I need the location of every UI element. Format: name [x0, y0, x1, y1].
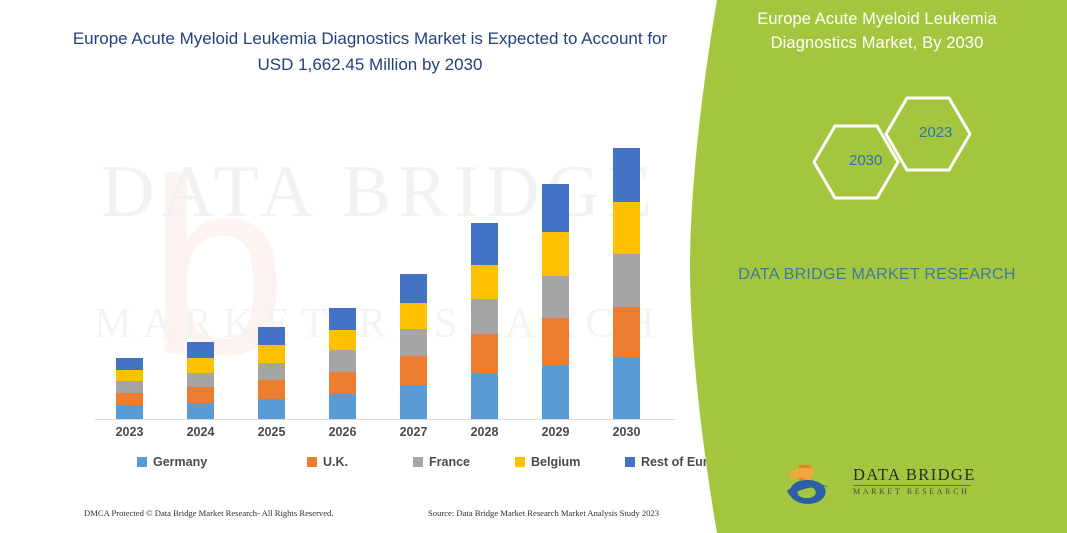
bar-segment — [400, 385, 427, 419]
legend-item-france[interactable]: France — [413, 455, 470, 469]
x-tick-2029: 2029 — [526, 425, 586, 439]
legend-item-belgium[interactable]: Belgium — [515, 455, 580, 469]
bar-segment — [400, 274, 427, 303]
x-tick-2023: 2023 — [100, 425, 160, 439]
bar-segment — [329, 330, 356, 350]
logo-divider — [853, 485, 971, 486]
bar-segment — [116, 358, 143, 370]
bar-segment — [258, 380, 285, 398]
bar-segment — [329, 350, 356, 371]
legend-label: U.K. — [323, 455, 348, 469]
bar-segment — [400, 303, 427, 329]
bar-segment — [116, 393, 143, 406]
bar-segment — [187, 403, 214, 419]
bar-segment — [613, 254, 640, 306]
company-logo: DATA BRIDGE MARKET RESEARCH — [785, 461, 985, 511]
infographic-root: b DATA BRIDGE MARKET RESEARCH Europe Acu… — [0, 0, 1067, 533]
legend-item-u-k[interactable]: U.K. — [307, 455, 348, 469]
hexagon-label-2030: 2030 — [849, 152, 882, 169]
bar-segment — [542, 184, 569, 232]
chart-panel: b DATA BRIDGE MARKET RESEARCH Europe Acu… — [0, 0, 720, 533]
bar-segment — [542, 276, 569, 319]
bar-segment — [613, 307, 640, 357]
x-axis-labels: 20232024202520262027202820292030 — [95, 425, 675, 445]
bar-segment — [116, 405, 143, 419]
bar-segment — [258, 327, 285, 345]
bar-segment — [471, 265, 498, 299]
logo-subtitle: MARKET RESEARCH — [853, 487, 969, 496]
bar-2028 — [471, 223, 498, 419]
bar-segment — [187, 387, 214, 403]
bar-segment — [400, 356, 427, 385]
bar-segment — [258, 399, 285, 419]
legend-swatch-icon — [413, 457, 423, 467]
bar-2025 — [258, 327, 285, 419]
bar-segment — [471, 373, 498, 420]
chart-title: Europe Acute Myeloid Leukemia Diagnostic… — [60, 26, 680, 77]
bar-segment — [471, 334, 498, 373]
legend-item-germany[interactable]: Germany — [137, 455, 207, 469]
hexagon-badges: 2023 2030 — [783, 92, 1023, 202]
chart-legend: GermanyU.K.FranceBelgiumRest of Europe — [95, 455, 675, 477]
x-axis-line — [95, 419, 675, 420]
bar-segment — [116, 370, 143, 382]
bar-segment — [471, 223, 498, 265]
hexagon-outlines-icon — [783, 92, 1023, 202]
bar-2027 — [400, 274, 427, 419]
bar-segment — [542, 232, 569, 276]
legend-swatch-icon — [625, 457, 635, 467]
bar-segment — [613, 357, 640, 419]
bar-2026 — [329, 308, 356, 419]
bar-segment — [329, 372, 356, 394]
bar-chart-plot — [95, 110, 675, 420]
x-tick-2026: 2026 — [313, 425, 373, 439]
legend-label: France — [429, 455, 470, 469]
bar-segment — [542, 365, 569, 419]
logo-name: DATA BRIDGE — [853, 465, 976, 485]
bar-2029 — [542, 184, 569, 419]
footer: DMCA Protected © Data Bridge Market Rese… — [0, 508, 720, 528]
legend-label: Germany — [153, 455, 207, 469]
bar-segment — [258, 345, 285, 362]
footer-source: Source: Data Bridge Market Research Mark… — [428, 508, 659, 518]
x-tick-2027: 2027 — [384, 425, 444, 439]
bar-segment — [258, 363, 285, 380]
panel-title: Europe Acute Myeloid Leukemia Diagnostic… — [717, 8, 1037, 56]
bar-segment — [116, 381, 143, 393]
bar-segment — [187, 342, 214, 358]
x-tick-2028: 2028 — [455, 425, 515, 439]
hexagon-label-2023: 2023 — [919, 124, 952, 141]
x-tick-2030: 2030 — [597, 425, 657, 439]
bar-segment — [329, 308, 356, 330]
bar-2023 — [116, 358, 143, 419]
bar-segment — [187, 373, 214, 388]
bar-segment — [471, 299, 498, 334]
legend-swatch-icon — [307, 457, 317, 467]
bar-segment — [400, 329, 427, 356]
data-bridge-b-icon — [785, 461, 845, 509]
x-tick-2025: 2025 — [242, 425, 302, 439]
legend-swatch-icon — [137, 457, 147, 467]
bar-segment — [187, 358, 214, 373]
bar-2030 — [613, 148, 640, 419]
legend-swatch-icon — [515, 457, 525, 467]
footer-copyright: DMCA Protected © Data Bridge Market Rese… — [84, 508, 334, 518]
bar-segment — [329, 394, 356, 419]
bar-segment — [542, 318, 569, 365]
x-tick-2024: 2024 — [171, 425, 231, 439]
bar-2024 — [187, 342, 214, 419]
legend-label: Belgium — [531, 455, 580, 469]
brand-text: DATA BRIDGE MARKET RESEARCH — [727, 262, 1027, 288]
side-panel: Europe Acute Myeloid Leukemia Diagnostic… — [687, 0, 1067, 533]
bar-segment — [613, 148, 640, 202]
bar-segment — [613, 202, 640, 254]
